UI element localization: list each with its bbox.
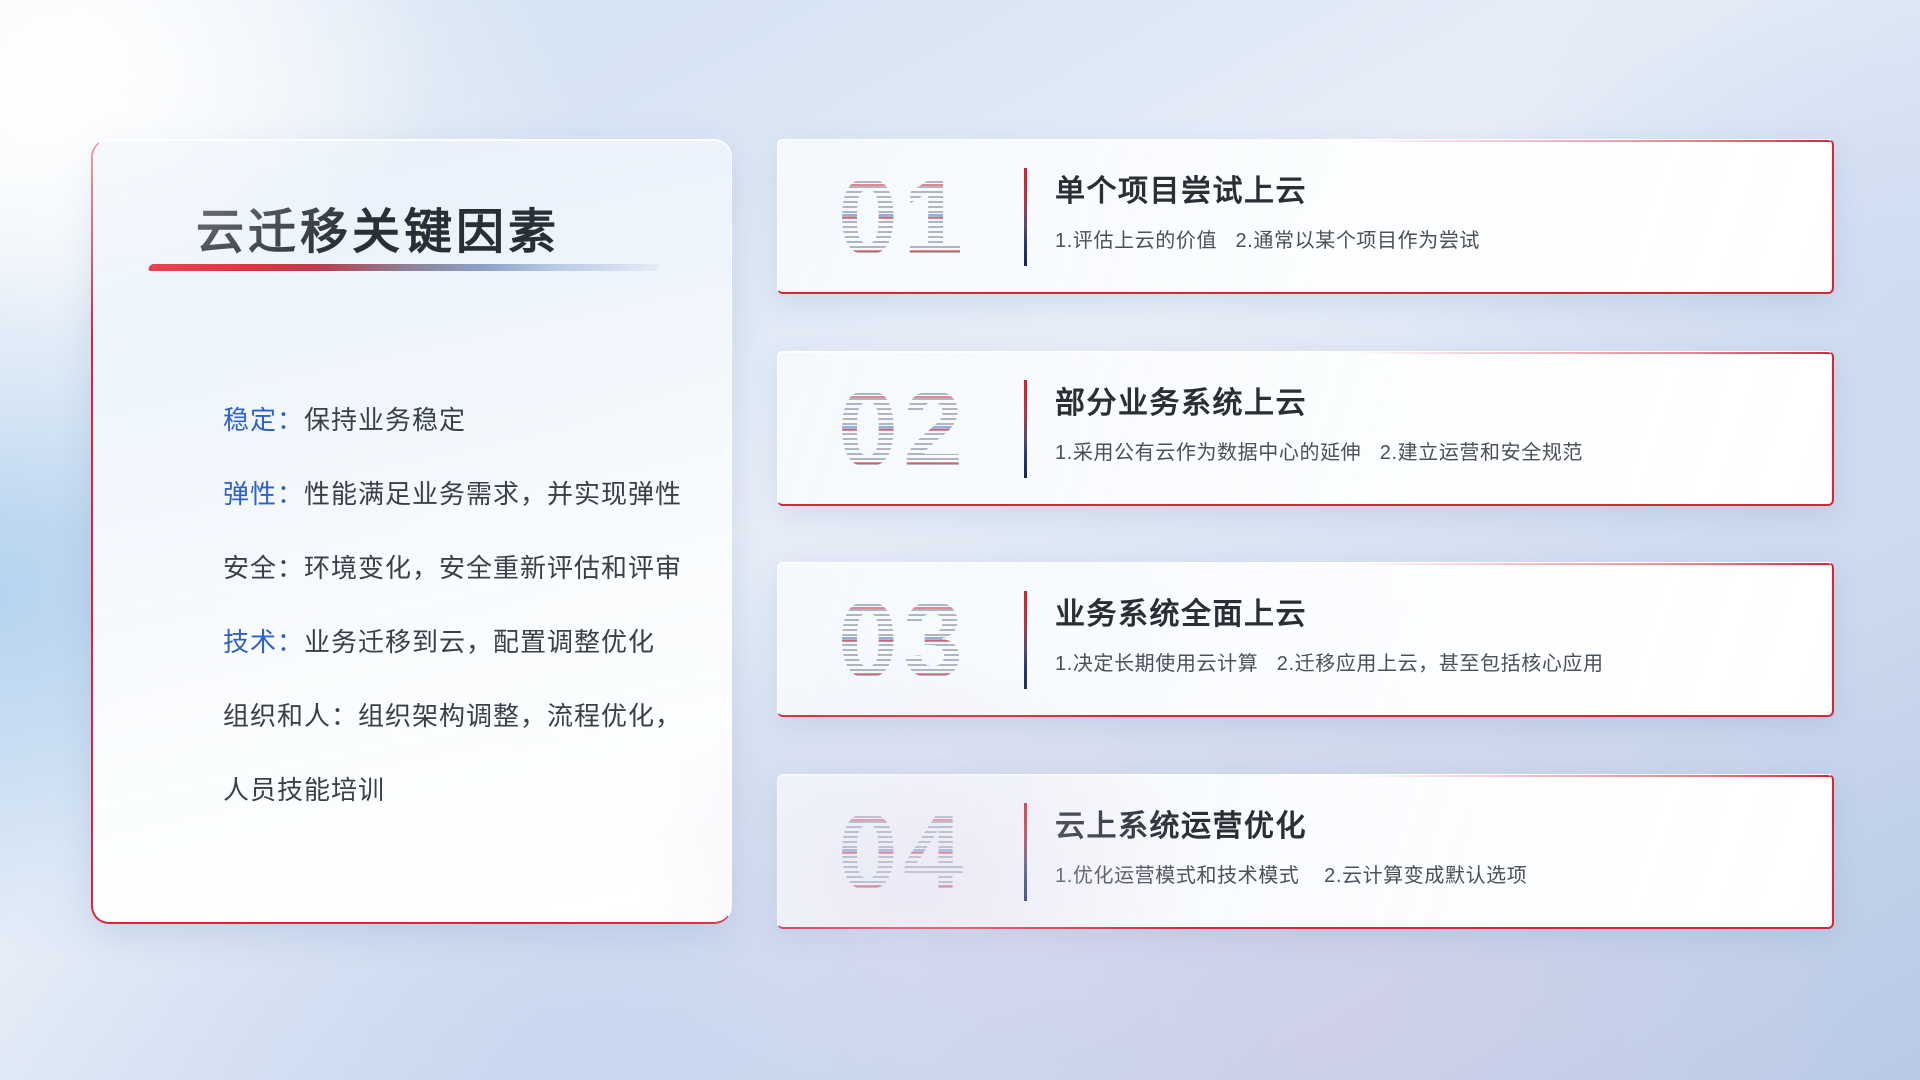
step-number: 03 [808, 574, 998, 706]
list-item: 组织和人：组织架构调整，流程优化， [223, 679, 693, 753]
accent-bar [1024, 380, 1027, 478]
list-item-value: 保持业务稳定 [304, 405, 466, 435]
list-item-value: 环境变化，安全重新评估和评审 [304, 553, 682, 583]
step-subtitle: 1.决定长期使用云计算 2.迁移应用上云，甚至包括核心应用 [1055, 647, 1604, 676]
list-item-value: 性能满足业务需求，并实现弹性 [304, 479, 682, 509]
slide-canvas: 云迁移关键因素 稳定：保持业务稳定 弹性：性能满足业务需求，并实现弹性 安全：环… [0, 0, 1920, 1080]
step-card-01[interactable]: 01 01 单个项目尝试上云 1.评估上云的价值 2.通常以某个项目作为尝试 [777, 139, 1834, 294]
accent-bar [1024, 803, 1027, 901]
list-item-key: 组织和人： [223, 701, 358, 731]
step-title: 单个项目尝试上云 [1055, 166, 1307, 210]
step-card-03[interactable]: 03 03 业务系统全面上云 1.决定长期使用云计算 2.迁移应用上云，甚至包括… [777, 562, 1834, 717]
step-number: 04 [808, 786, 998, 918]
step-subtitle: 1.评估上云的价值 2.通常以某个项目作为尝试 [1055, 224, 1480, 253]
list-item-value: 人员技能培训 [223, 775, 385, 805]
list-item: 弹性：性能满足业务需求，并实现弹性 [223, 457, 693, 531]
step-card-04[interactable]: 04 04 云上系统运营优化 1.优化运营模式和技术模式 2.云计算变成默认选项 [777, 774, 1834, 929]
list-item-key: 弹性： [223, 479, 304, 509]
list-item-value: 业务迁移到云，配置调整优化 [304, 627, 655, 657]
step-title: 云上系统运营优化 [1055, 801, 1307, 845]
list-item: 安全：环境变化，安全重新评估和评审 [223, 531, 693, 605]
list-item: 人员技能培训 [223, 753, 693, 827]
step-subtitle: 1.优化运营模式和技术模式 2.云计算变成默认选项 [1055, 859, 1527, 888]
list-item-key: 安全： [223, 553, 304, 583]
step-card-02[interactable]: 02 02 部分业务系统上云 1.采用公有云作为数据中心的延伸 2.建立运营和安… [777, 351, 1834, 506]
step-number: 01 [808, 151, 998, 283]
step-title: 部分业务系统上云 [1055, 378, 1307, 422]
list-item: 稳定：保持业务稳定 [223, 383, 693, 457]
step-number: 02 [808, 363, 998, 495]
accent-bar [1024, 591, 1027, 689]
step-title: 业务系统全面上云 [1055, 589, 1307, 633]
list-item-value: 组织架构调整，流程优化， [358, 701, 682, 731]
list-item-key: 技术： [223, 627, 304, 657]
key-factors-panel: 云迁移关键因素 稳定：保持业务稳定 弹性：性能满足业务需求，并实现弹性 安全：环… [91, 139, 732, 924]
page-title: 云迁移关键因素 [196, 192, 560, 262]
title-underline-rule [148, 264, 661, 271]
accent-bar [1024, 168, 1027, 266]
list-item: 技术：业务迁移到云，配置调整优化 [223, 605, 693, 679]
list-item-key: 稳定： [223, 405, 304, 435]
key-factors-list: 稳定：保持业务稳定 弹性：性能满足业务需求，并实现弹性 安全：环境变化，安全重新… [223, 383, 693, 827]
step-subtitle: 1.采用公有云作为数据中心的延伸 2.建立运营和安全规范 [1055, 436, 1583, 465]
